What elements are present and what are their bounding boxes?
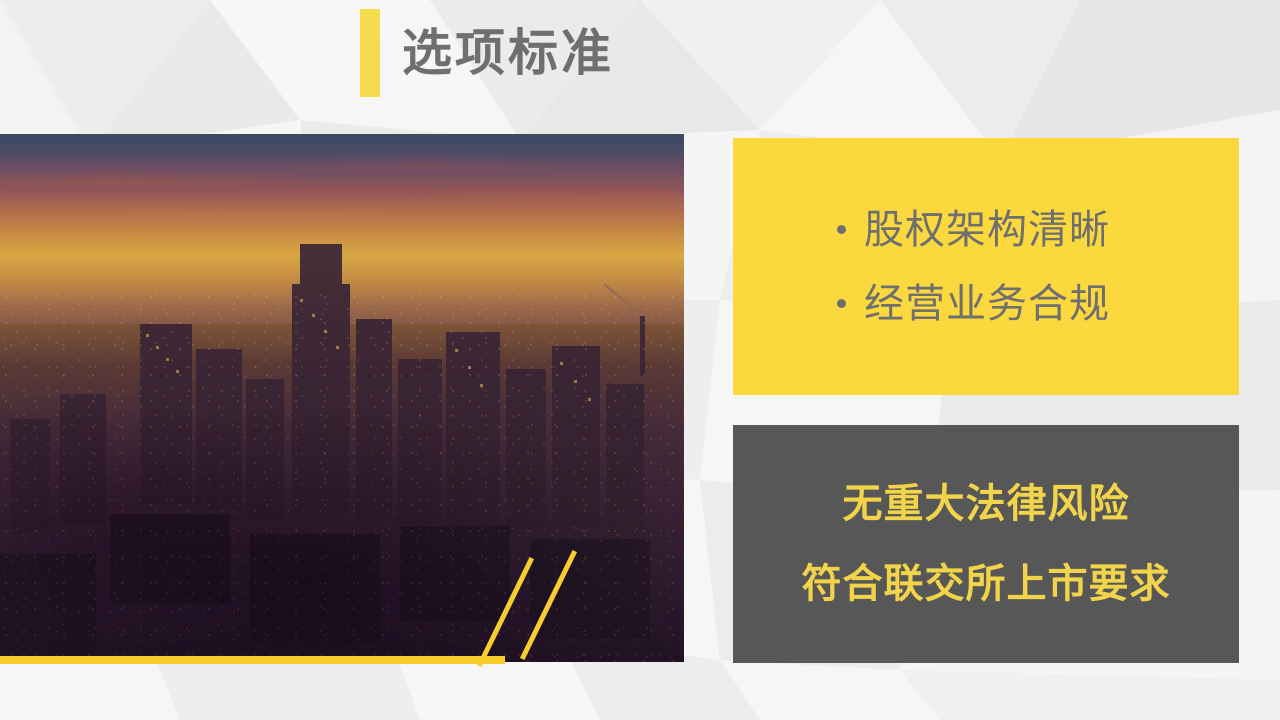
- bullet-dot-icon: [837, 225, 846, 234]
- bullet-label: 股权架构清晰: [864, 207, 1110, 253]
- bullet-dot-icon: [837, 299, 846, 308]
- dark-card-line: 无重大法律风险: [843, 480, 1130, 528]
- photo-purple-tint: [0, 134, 684, 662]
- criteria-card-yellow: 股权架构清晰 经营业务合规: [733, 138, 1239, 395]
- dark-card-line: 符合联交所上市要求: [802, 560, 1171, 608]
- cityscape-photo: [0, 134, 684, 662]
- title-accent-bar: [360, 9, 380, 97]
- page-title: 选项标准: [402, 28, 614, 78]
- criteria-card-dark: 无重大法律风险 符合联交所上市要求: [733, 425, 1239, 663]
- photo-underline-bar: [0, 656, 505, 664]
- slide-title-block: 选项标准: [360, 8, 614, 98]
- bullet-label: 经营业务合规: [864, 281, 1110, 327]
- list-item: 股权架构清晰: [837, 207, 1239, 253]
- list-item: 经营业务合规: [837, 281, 1239, 327]
- presentation-slide: 选项标准: [0, 0, 1280, 720]
